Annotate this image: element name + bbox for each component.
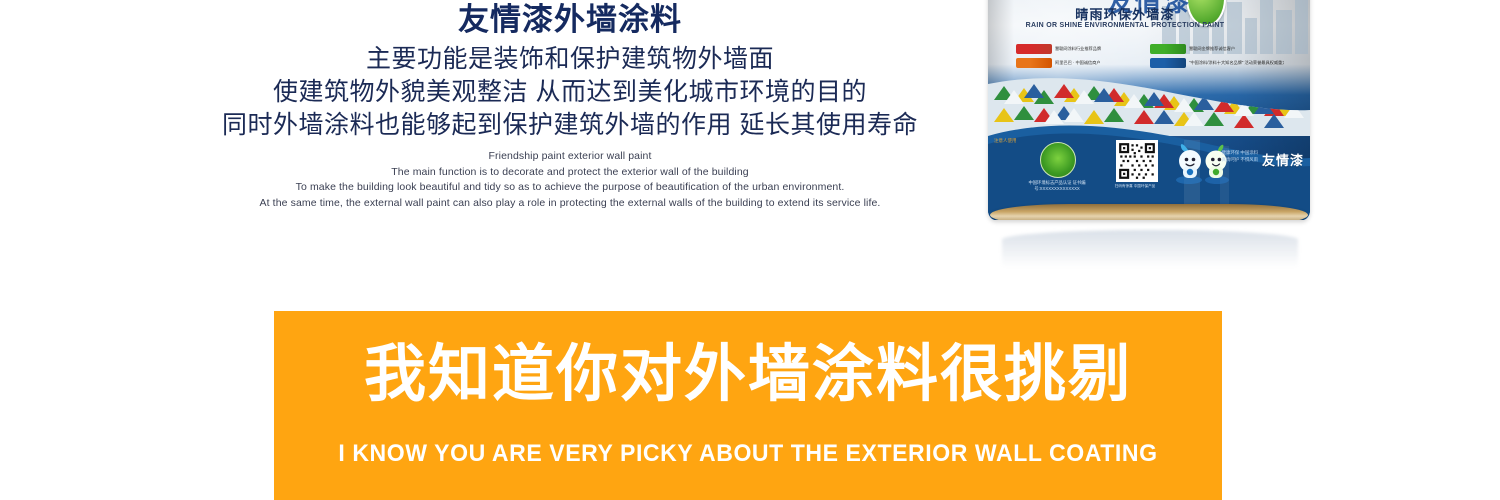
alibaba-logo-icon	[1016, 58, 1052, 68]
chinese-subtitle-group: 主要功能是装饰和保护建筑物外墙面 使建筑物外貌美观整洁 从而达到美化城市环境的目…	[150, 43, 990, 142]
qr-code-icon[interactable]	[1116, 140, 1158, 182]
certification-item: 慧聪网金牌推荐诚信客户	[1150, 42, 1284, 56]
ganji-logo-icon	[1150, 44, 1186, 54]
page-title: 友情漆外墙涂料	[150, 0, 990, 39]
hero-text-block: 友情漆外墙涂料 主要功能是装饰和保护建筑物外墙面 使建筑物外貌美观整洁 从而达到…	[150, 0, 990, 211]
certification-label: 慧聪网涂料行业推荐品牌	[1055, 46, 1101, 51]
english-subtitle-line-3: To make the building look beautiful and …	[150, 180, 990, 196]
certification-item: 慧聪网涂料行业推荐品牌	[1016, 42, 1150, 56]
english-subtitle-line-4: At the same time, the external wall pain…	[150, 196, 990, 212]
banner-headline-chinese: 我知道你对外墙涂料很挑剔	[274, 337, 1222, 413]
english-subtitle-line-2: The main function is to decorate and pro…	[150, 165, 990, 181]
certification-label: 阿里巴巴 · 中国诚信商户	[1055, 60, 1101, 65]
paint-can-reflection	[1002, 230, 1298, 274]
paint-can-bottom-rim	[990, 204, 1308, 220]
can-slogan-line-1: 健康环保 中国涂料	[1222, 150, 1258, 157]
qr-code-label: 扫码有惊喜 中国环保产品	[1104, 184, 1166, 189]
paint-can-body: 友情漆 晴雨环保外墙漆 RAIN OR SHINE ENVIRONMENTAL …	[988, 0, 1310, 220]
can-side-label: 注意人使用	[994, 138, 1017, 144]
certification-item: 阿里巴巴 · 中国诚信商户	[1016, 56, 1150, 70]
promo-banner: 我知道你对外墙涂料很挑剔 I KNOW YOU ARE VERY PICKY A…	[274, 311, 1222, 500]
english-subtitle-group: Friendship paint exterior wall paint The…	[150, 149, 990, 211]
china-environmental-label-seal-icon	[1040, 142, 1076, 178]
certification-logos-row: 慧聪网涂料行业推荐品牌 慧聪网金牌推荐诚信客户 阿里巴巴 · 中国诚信商户 "中…	[1016, 42, 1284, 70]
can-english-title: RAIN OR SHINE ENVIRONMENTAL PROTECTION P…	[1010, 21, 1240, 30]
english-subtitle-line-1: Friendship paint exterior wall paint	[150, 149, 990, 165]
mascot-characters-icon	[1174, 142, 1234, 184]
chinese-subtitle-line-1: 主要功能是装饰和保护建筑物外墙面	[150, 43, 990, 76]
can-slogan-text: 健康环保 中国涂料 真情呵护 不惧风雨	[1222, 150, 1258, 163]
certification-label: "中国涂料/涂料十大知名品牌" 活动荣誉最具权威重力奖	[1189, 60, 1284, 65]
certification-item: "中国涂料/涂料十大知名品牌" 活动荣誉最具权威重力奖	[1150, 56, 1284, 70]
eco-seal-label: 中国环境标志产品认证 证书编号:XXXXXXXXXXXXXX	[1012, 180, 1102, 192]
hc360-logo-icon	[1016, 44, 1052, 54]
chinese-subtitle-line-3: 同时外墙涂料也能够起到保护建筑外墙的作用 延长其使用寿命	[150, 109, 990, 142]
chinese-subtitle-line-2: 使建筑物外貌美观整洁 从而达到美化城市环境的目的	[150, 76, 990, 109]
certification-label: 慧聪网金牌推荐诚信客户	[1189, 46, 1235, 51]
can-slogan-line-2: 真情呵护 不惧风雨	[1222, 157, 1258, 164]
can-brand-right-wordmark: 友情漆	[1262, 150, 1304, 169]
jm-logo-icon	[1150, 58, 1186, 68]
product-image-paint-can: 友情漆 晴雨环保外墙漆 RAIN OR SHINE ENVIRONMENTAL …	[988, 0, 1310, 230]
banner-headline-english: I KNOW YOU ARE VERY PICKY ABOUT THE EXTE…	[293, 439, 1203, 469]
